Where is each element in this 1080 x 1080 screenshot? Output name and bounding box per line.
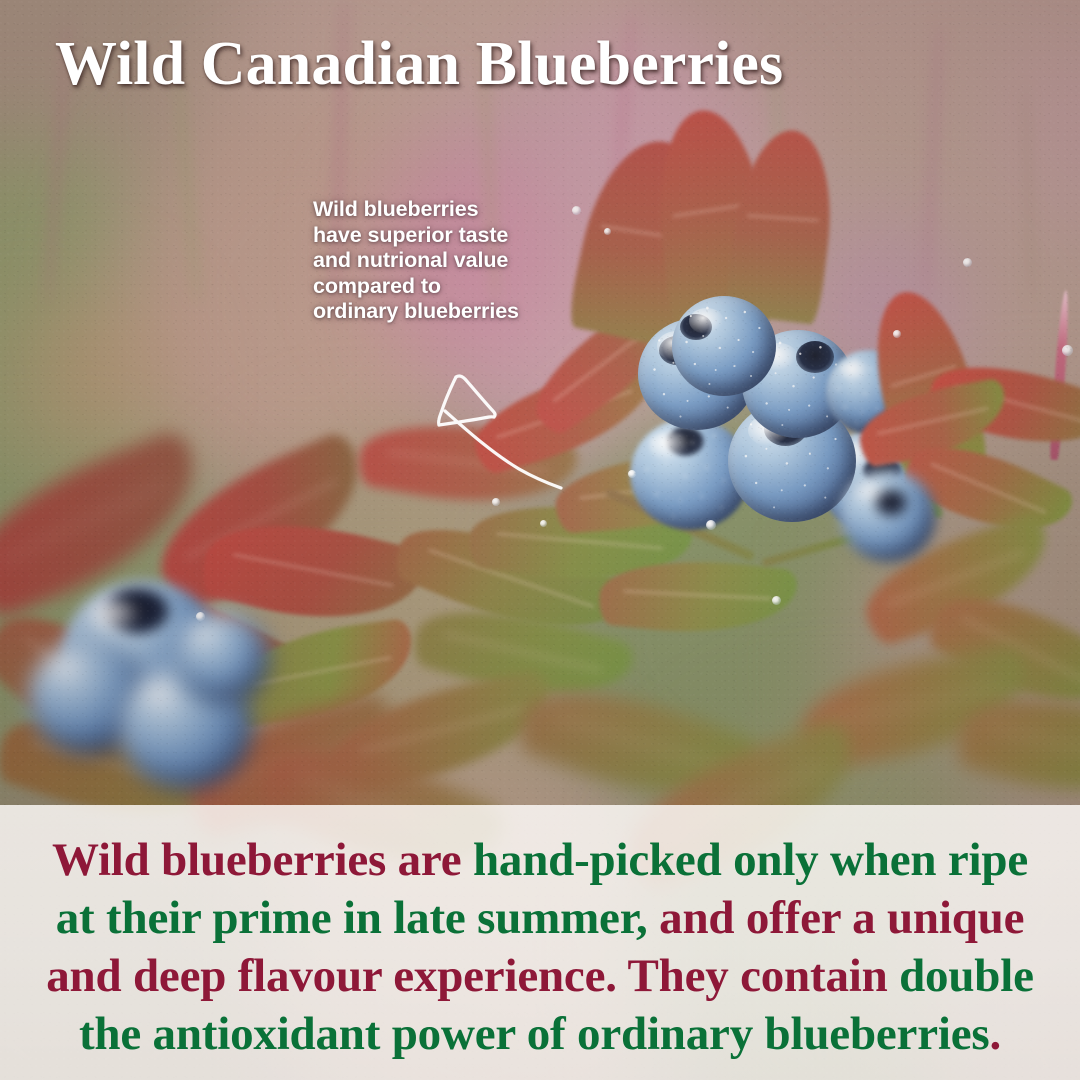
callout-line: compared to — [313, 274, 519, 300]
callout-line: and nutrional value — [313, 248, 519, 274]
dew-drop — [604, 228, 611, 235]
hand-drawn-arrow-icon — [415, 355, 590, 500]
caption-seg-red: and deep flavour experience. They contai… — [46, 950, 899, 1002]
blueberry — [175, 612, 270, 704]
caption-line: the antioxidant power of ordinary bluebe… — [22, 1005, 1058, 1063]
dew-drop — [963, 258, 972, 267]
caption-line: at their prime in late summer, and offer… — [22, 889, 1058, 947]
caption-seg-green: the antioxidant power of ordinary bluebe… — [79, 1008, 990, 1060]
caption-text: Wild blueberries are hand-picked only wh… — [0, 831, 1080, 1063]
caption-line: and deep flavour experience. They contai… — [22, 947, 1058, 1005]
dew-drop — [706, 520, 716, 530]
callout-line: Wild blueberries — [313, 197, 519, 223]
dew-drop — [196, 612, 205, 621]
dew-drop — [1062, 345, 1073, 356]
blueberry — [672, 296, 776, 396]
blueberry-poster: Wild Canadian Blueberries Wild blueberri… — [0, 0, 1080, 1080]
caption-seg-green: hand-picked only when ripe — [473, 834, 1028, 886]
dew-drop — [540, 520, 547, 527]
dew-drop — [572, 206, 581, 215]
caption-seg-red: Wild blueberries are — [52, 834, 473, 886]
callout-line: have superior taste — [313, 223, 519, 249]
caption-line: Wild blueberries are hand-picked only wh… — [22, 831, 1058, 889]
caption-seg-green: at their prime in late summer, — [56, 892, 648, 944]
caption-seg-red: . — [989, 1008, 1001, 1060]
caption-seg-green: double — [899, 950, 1034, 1002]
callout-text: Wild blueberries have superior taste and… — [313, 197, 519, 325]
callout-line: ordinary blueberries — [313, 299, 519, 325]
dew-drop — [893, 330, 901, 338]
caption-panel: Wild blueberries are hand-picked only wh… — [0, 805, 1080, 1080]
dew-drop — [628, 470, 636, 478]
caption-seg-red: and offer a unique — [648, 892, 1025, 944]
blueberry — [840, 470, 936, 562]
dew-drop — [772, 596, 781, 605]
page-title: Wild Canadian Blueberries — [55, 33, 783, 95]
